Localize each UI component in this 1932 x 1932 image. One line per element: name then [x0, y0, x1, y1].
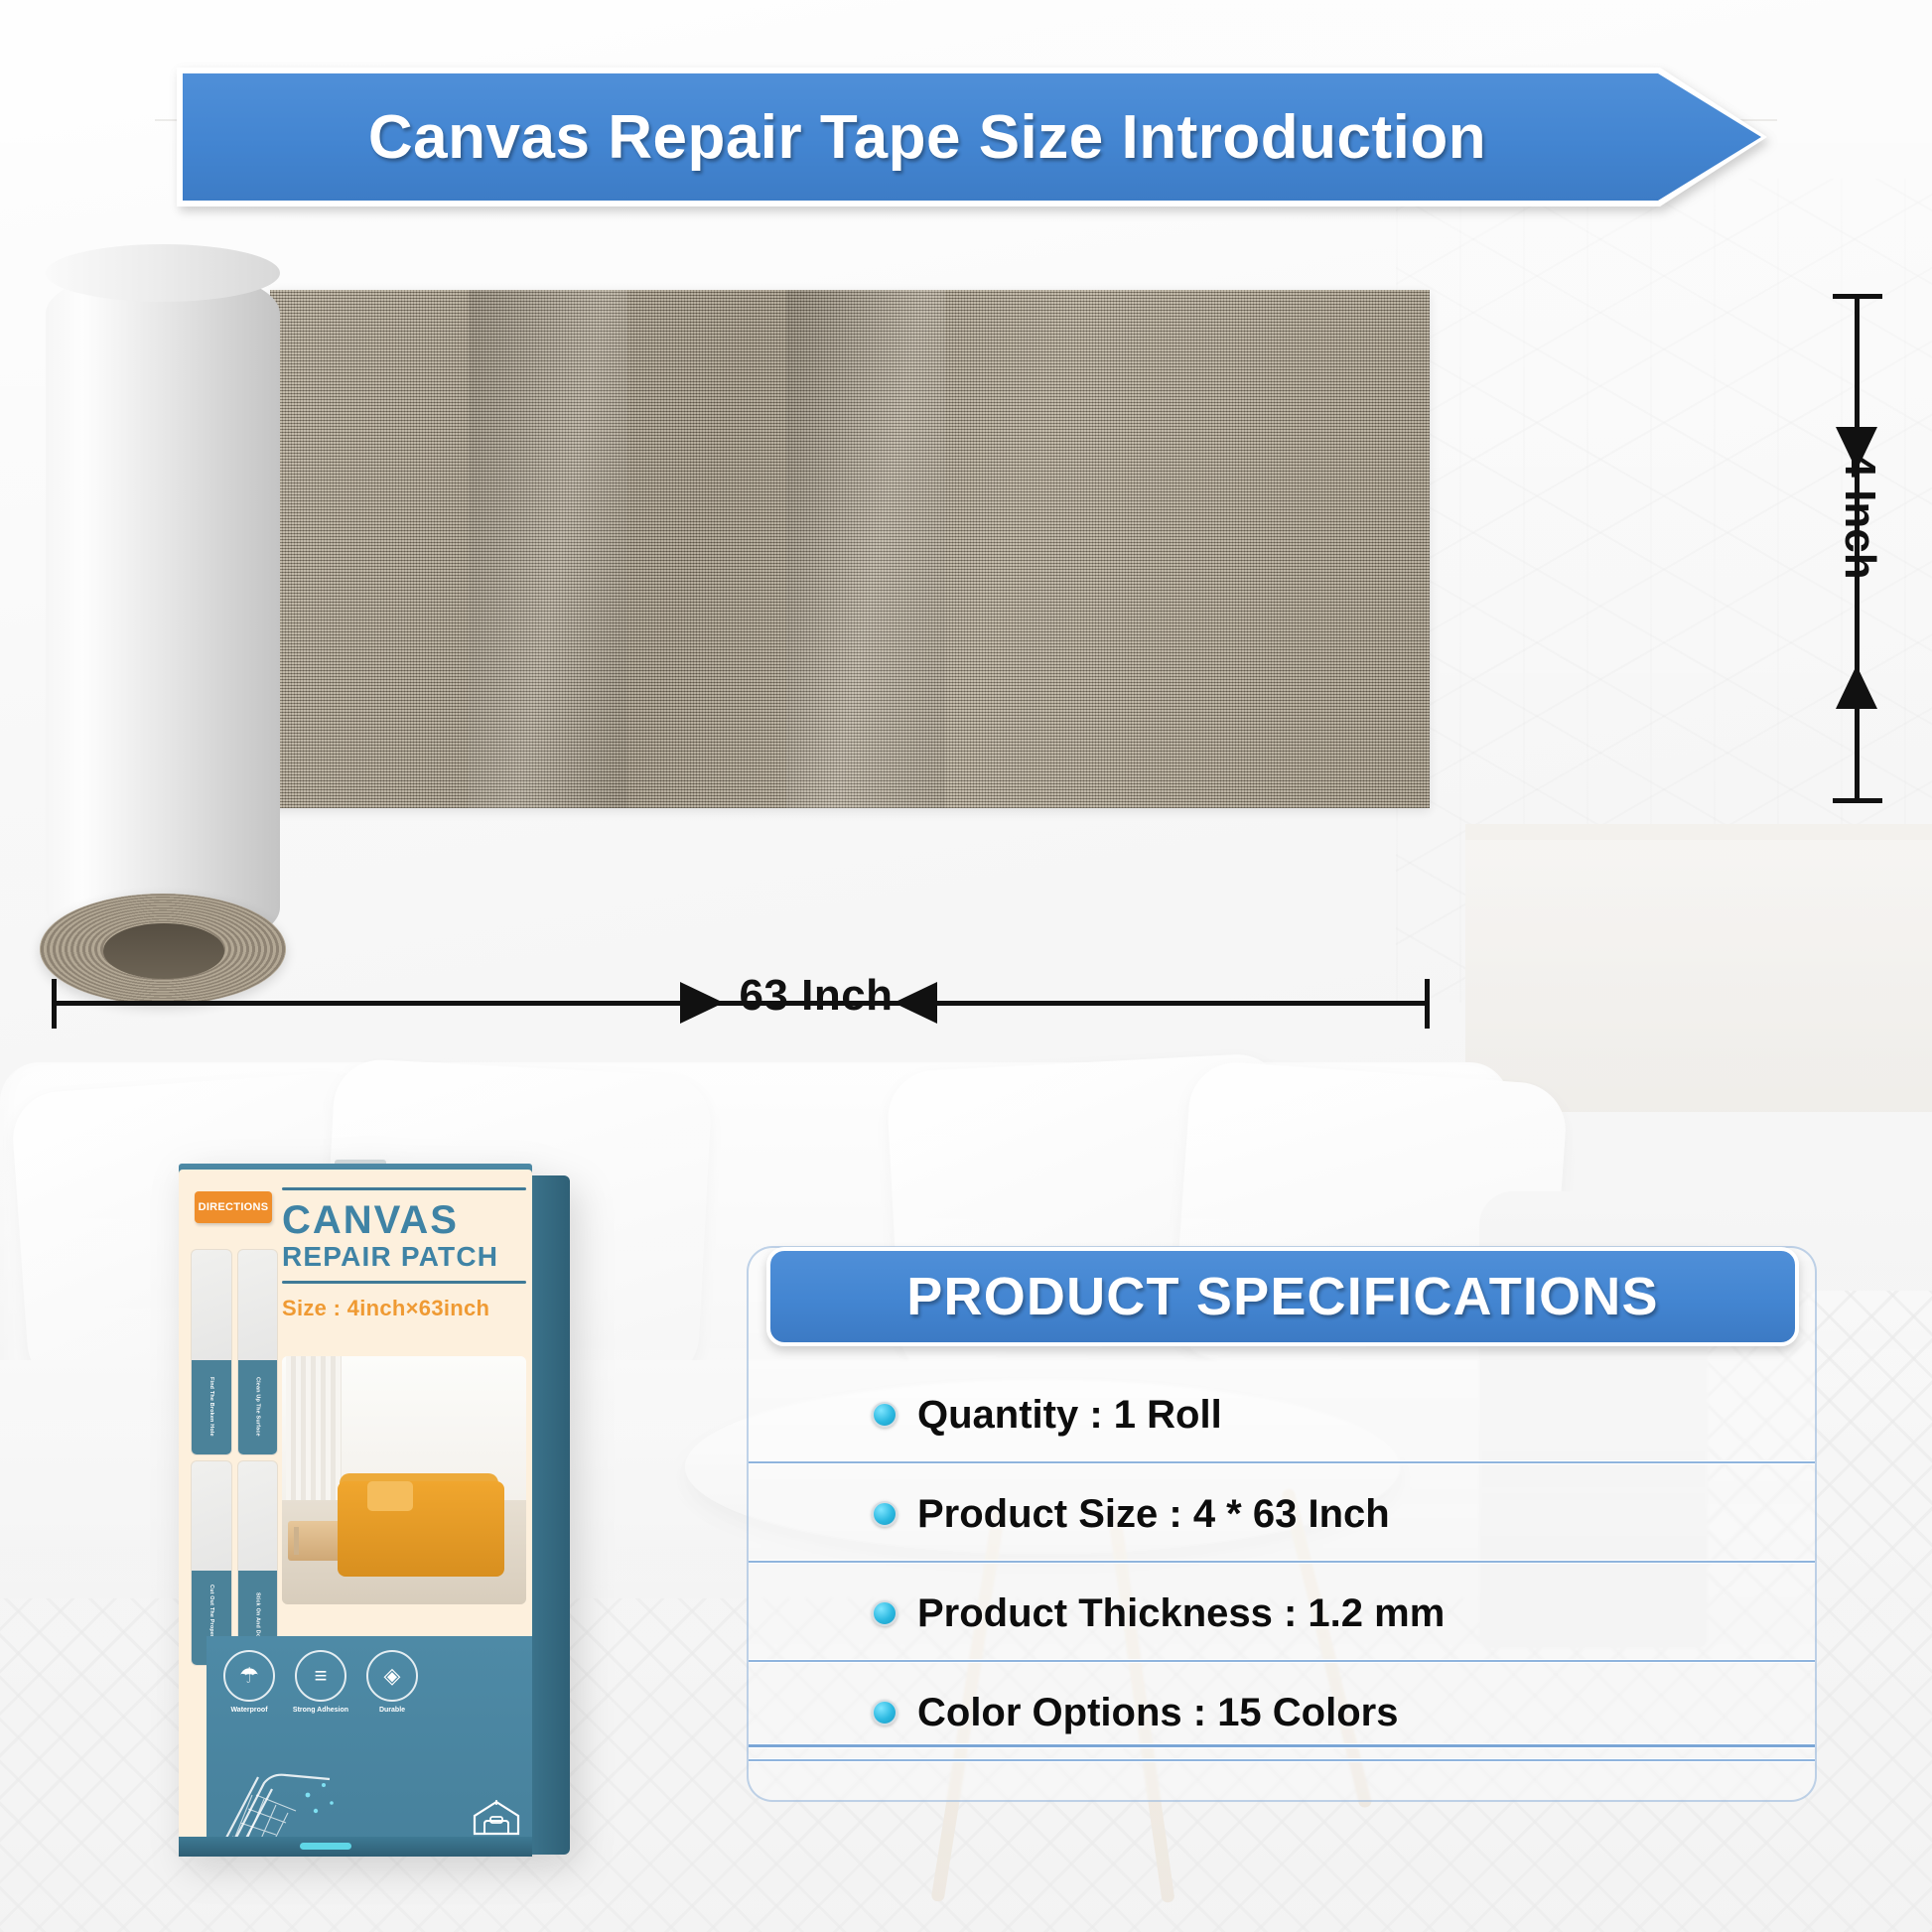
feature-label: Strong Adhesion	[290, 1707, 351, 1715]
photo-sofa-cushion	[367, 1481, 413, 1511]
box-lifestyle-photo	[282, 1356, 526, 1604]
width-label: 63 Inch	[737, 971, 896, 1021]
box-title-rule-top	[282, 1187, 526, 1190]
spec-header-title: PRODUCT SPECIFICATIONS	[906, 1266, 1658, 1327]
feature-item: ◈ Durable	[361, 1650, 423, 1753]
step-cell: Stick On And Done	[237, 1460, 279, 1667]
box-bottom-panel: ☂ Waterproof ≡ Strong Adhesion ◈ Durable	[207, 1636, 532, 1855]
box-title-block: CANVAS REPAIR PATCH Size : 4inch×63inch	[282, 1187, 526, 1321]
tape-roll-core	[103, 923, 224, 979]
arrow-left-icon	[894, 982, 937, 1024]
feature-label: Durable	[361, 1707, 423, 1715]
step-label: Clean Up The Surface	[238, 1360, 278, 1454]
bullet-icon	[872, 1700, 897, 1725]
tape-roll-top-edge	[46, 244, 280, 302]
house-sofa-icon	[471, 1799, 522, 1837]
tape-fold-shadow	[469, 290, 627, 808]
height-label: 4 Inch	[1835, 452, 1884, 581]
spec-text: Product Thickness : 1.2 mm	[917, 1591, 1445, 1636]
photo-curtain	[286, 1356, 342, 1510]
bullet-icon	[872, 1402, 897, 1428]
spec-header: PRODUCT SPECIFICATIONS	[766, 1247, 1799, 1346]
canvas-tape-strip	[270, 290, 1430, 808]
feature-row: ☂ Waterproof ≡ Strong Adhesion ◈ Durable	[218, 1650, 431, 1753]
water-drop-icon: ☂	[223, 1650, 275, 1702]
photo-sofa	[338, 1481, 504, 1577]
spec-list: Quantity : 1 Roll Product Size : 4 * 63 …	[749, 1365, 1815, 1762]
box-size-text: Size : 4inch×63inch	[282, 1296, 526, 1321]
spec-divider	[749, 1758, 1815, 1762]
bullet-icon	[872, 1501, 897, 1527]
shield-icon: ◈	[366, 1650, 418, 1702]
instruction-step-grid: Find The Broken Hole Clean Up The Surfac…	[191, 1249, 278, 1666]
spec-footer-divider	[749, 1743, 1815, 1748]
dimension-cap-bottom	[1833, 798, 1882, 803]
dimension-cap-left	[52, 979, 57, 1029]
layers-icon: ≡	[295, 1650, 346, 1702]
spec-row: Product Size : 4 * 63 Inch	[749, 1464, 1815, 1564]
dimension-cap-top	[1833, 294, 1882, 299]
spec-row: Quantity : 1 Roll	[749, 1365, 1815, 1464]
directions-badge: DIRECTIONS	[195, 1191, 272, 1223]
product-specifications-panel: PRODUCT SPECIFICATIONS Quantity : 1 Roll…	[747, 1246, 1817, 1802]
step-cell: Find The Broken Hole	[191, 1249, 232, 1455]
photo-table-leg	[294, 1527, 299, 1555]
step-label: Find The Broken Hole	[192, 1360, 231, 1454]
tape-fold-shadow	[786, 290, 945, 808]
bullet-icon	[872, 1600, 897, 1626]
step-cell: Cut Out The Proper Size	[191, 1460, 232, 1667]
spec-text: Product Size : 4 * 63 Inch	[917, 1492, 1390, 1537]
box-front-panel: DIRECTIONS CANVAS REPAIR PATCH Size : 4i…	[179, 1170, 532, 1855]
product-packaging-box: DIRECTIONS CANVAS REPAIR PATCH Size : 4i…	[151, 1152, 578, 1866]
box-title-line2: REPAIR PATCH	[282, 1242, 526, 1271]
arrow-up-icon	[1836, 665, 1877, 709]
spec-row: Product Thickness : 1.2 mm	[749, 1564, 1815, 1663]
spec-text: Quantity : 1 Roll	[917, 1393, 1222, 1438]
feature-item: ≡ Strong Adhesion	[290, 1650, 351, 1753]
arrow-right-icon	[680, 982, 724, 1024]
product-hero-image	[0, 0, 1932, 1042]
spec-text: Color Options : 15 Colors	[917, 1691, 1398, 1735]
box-foot-strip	[179, 1837, 532, 1857]
dimension-cap-right	[1425, 979, 1430, 1029]
box-title-rule-bottom	[282, 1281, 526, 1284]
feature-item: ☂ Waterproof	[218, 1650, 280, 1753]
tape-roll-body	[46, 268, 280, 953]
feature-label: Waterproof	[218, 1707, 280, 1715]
box-title-line1: CANVAS	[282, 1200, 526, 1240]
step-cell: Clean Up The Surface	[237, 1249, 279, 1455]
box-accent-bar	[300, 1843, 351, 1850]
